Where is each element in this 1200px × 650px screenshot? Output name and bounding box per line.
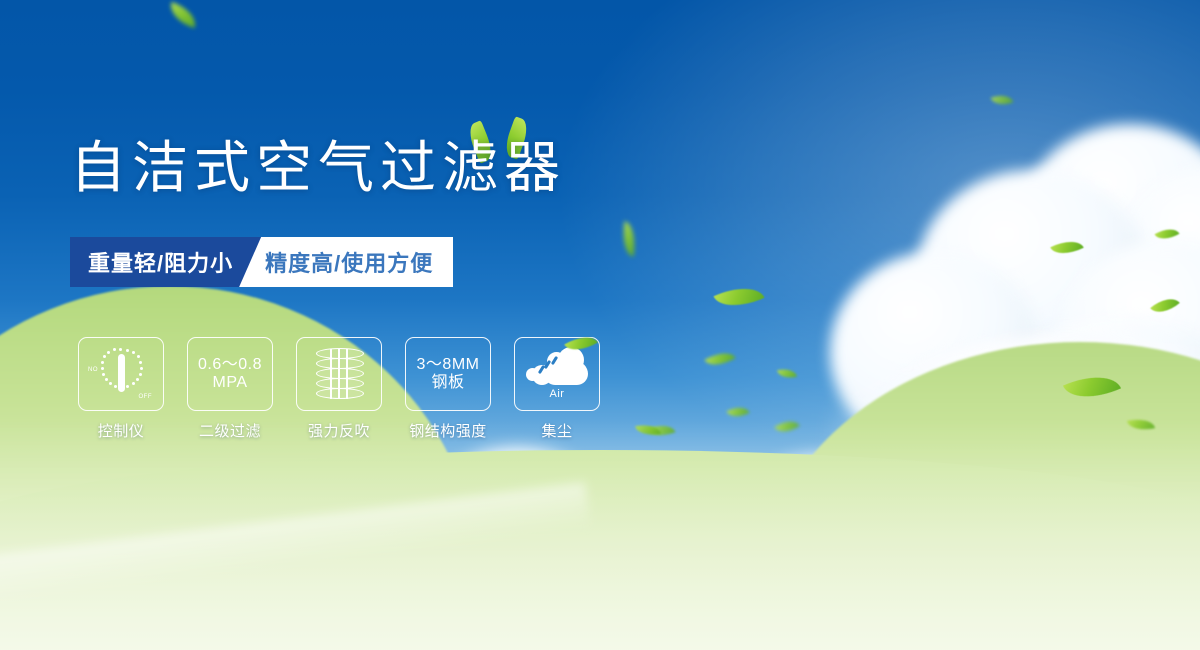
steel-material: 钢板 <box>431 374 464 392</box>
feature-icon-box: 3～8MM 钢板 <box>405 337 491 411</box>
gauge-label-off: OFF <box>139 394 153 400</box>
feature-label: 集尘 <box>514 420 600 441</box>
feature-icon-box: NO OFF <box>78 337 164 411</box>
feature-item-two-stage-filter[interactable]: 0.6～0.8 MPA 二级过滤 <box>187 337 273 441</box>
feature-list: NO OFF 控制仪 0.6～0.8 MPA 二级过滤 <box>78 337 600 441</box>
feature-item-back-blow[interactable]: 强力反吹 <box>296 337 382 441</box>
gauge-label-no: NO <box>88 367 98 373</box>
feature-item-dust-collection[interactable]: Air 集尘 <box>514 337 600 441</box>
gauge-needle <box>118 354 125 392</box>
feature-icon-box: Air <box>514 337 600 411</box>
filter-stack-icon <box>312 346 366 402</box>
page-title: 自洁式空气过滤器 <box>70 140 566 196</box>
feature-item-controller[interactable]: NO OFF 控制仪 <box>78 337 164 441</box>
feature-icon-box <box>296 337 382 411</box>
feature-icon-box: 0.6～0.8 MPA <box>187 337 273 411</box>
pressure-unit: MPA <box>213 374 248 392</box>
cloud-air-icon <box>526 349 588 387</box>
feature-label: 强力反吹 <box>296 420 382 441</box>
feature-label: 钢结构强度 <box>405 420 491 441</box>
subtitle-bar: 重量轻/阻力小 精度高/使用方便 <box>70 237 453 287</box>
feature-label: 二级过滤 <box>187 420 273 441</box>
feature-item-steel-strength[interactable]: 3～8MM 钢板 钢结构强度 <box>405 337 491 441</box>
product-banner: 自洁式空气过滤器 重量轻/阻力小 精度高/使用方便 <box>0 0 1200 650</box>
steel-thickness: 3～8MM <box>417 356 480 374</box>
subtitle-right: 精度高/使用方便 <box>239 237 453 287</box>
subtitle-left: 重量轻/阻力小 <box>70 237 261 287</box>
air-label: Air <box>550 388 565 400</box>
field-haze <box>0 420 1200 650</box>
pressure-value: 0.6～0.8 <box>198 356 262 374</box>
gauge-icon: NO OFF <box>92 347 150 401</box>
feature-label: 控制仪 <box>78 420 164 441</box>
